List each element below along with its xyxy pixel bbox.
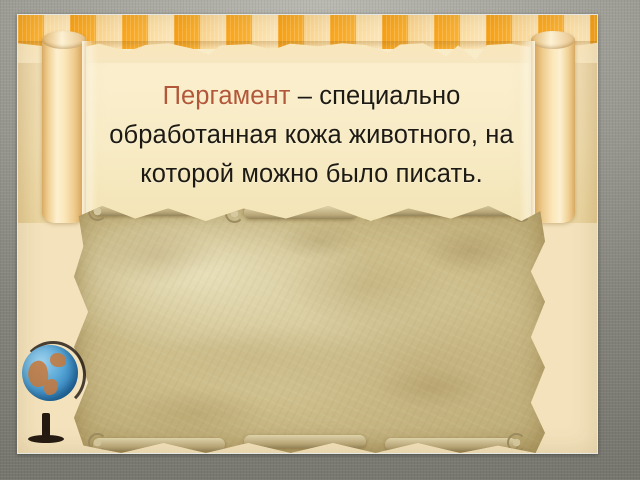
- roll-top-cap: [42, 31, 86, 49]
- globe-base: [28, 435, 64, 443]
- scroll-roll-left: [42, 33, 86, 223]
- globe-decoration: [20, 327, 82, 445]
- roll-top-cap: [531, 31, 575, 49]
- parchment-scroll-illustration: Пергамент – специально обработанная кожа…: [18, 15, 597, 453]
- picture-frame[interactable]: Пергамент – специально обработанная кожа…: [17, 14, 598, 454]
- caption-keyword: Пергамент: [163, 82, 291, 110]
- roll-cylinder-body: [531, 33, 575, 223]
- caption-line-3: которой можно было писать.: [74, 155, 549, 194]
- caption-line-1: Пергамент – специально: [74, 77, 549, 116]
- parchment-burnt-rim: [74, 201, 545, 453]
- caption-text: Пергамент – специально обработанная кожа…: [74, 77, 549, 194]
- scroll-roll-right: [531, 33, 575, 223]
- parchment-spiral-icon: [88, 433, 107, 452]
- roll-cylinder-body: [42, 33, 86, 223]
- caption-line-1-rest: – специально: [291, 82, 461, 110]
- roll-sheet-flare: [519, 41, 535, 223]
- caption-line-2: обработанная кожа животного, на: [74, 116, 549, 155]
- aged-parchment-sheet: [74, 201, 545, 453]
- parchment-curl-bottom-right: [385, 438, 517, 451]
- roll-sheet-flare: [82, 41, 98, 223]
- globe-landmass: [50, 353, 66, 367]
- parchment-curl-bottom-center: [244, 435, 366, 448]
- parchment-curl-bottom-left: [93, 438, 225, 451]
- globe-landmass: [44, 379, 58, 395]
- globe-sphere: [22, 345, 78, 401]
- slide-canvas: Пергамент – специально обработанная кожа…: [0, 0, 640, 480]
